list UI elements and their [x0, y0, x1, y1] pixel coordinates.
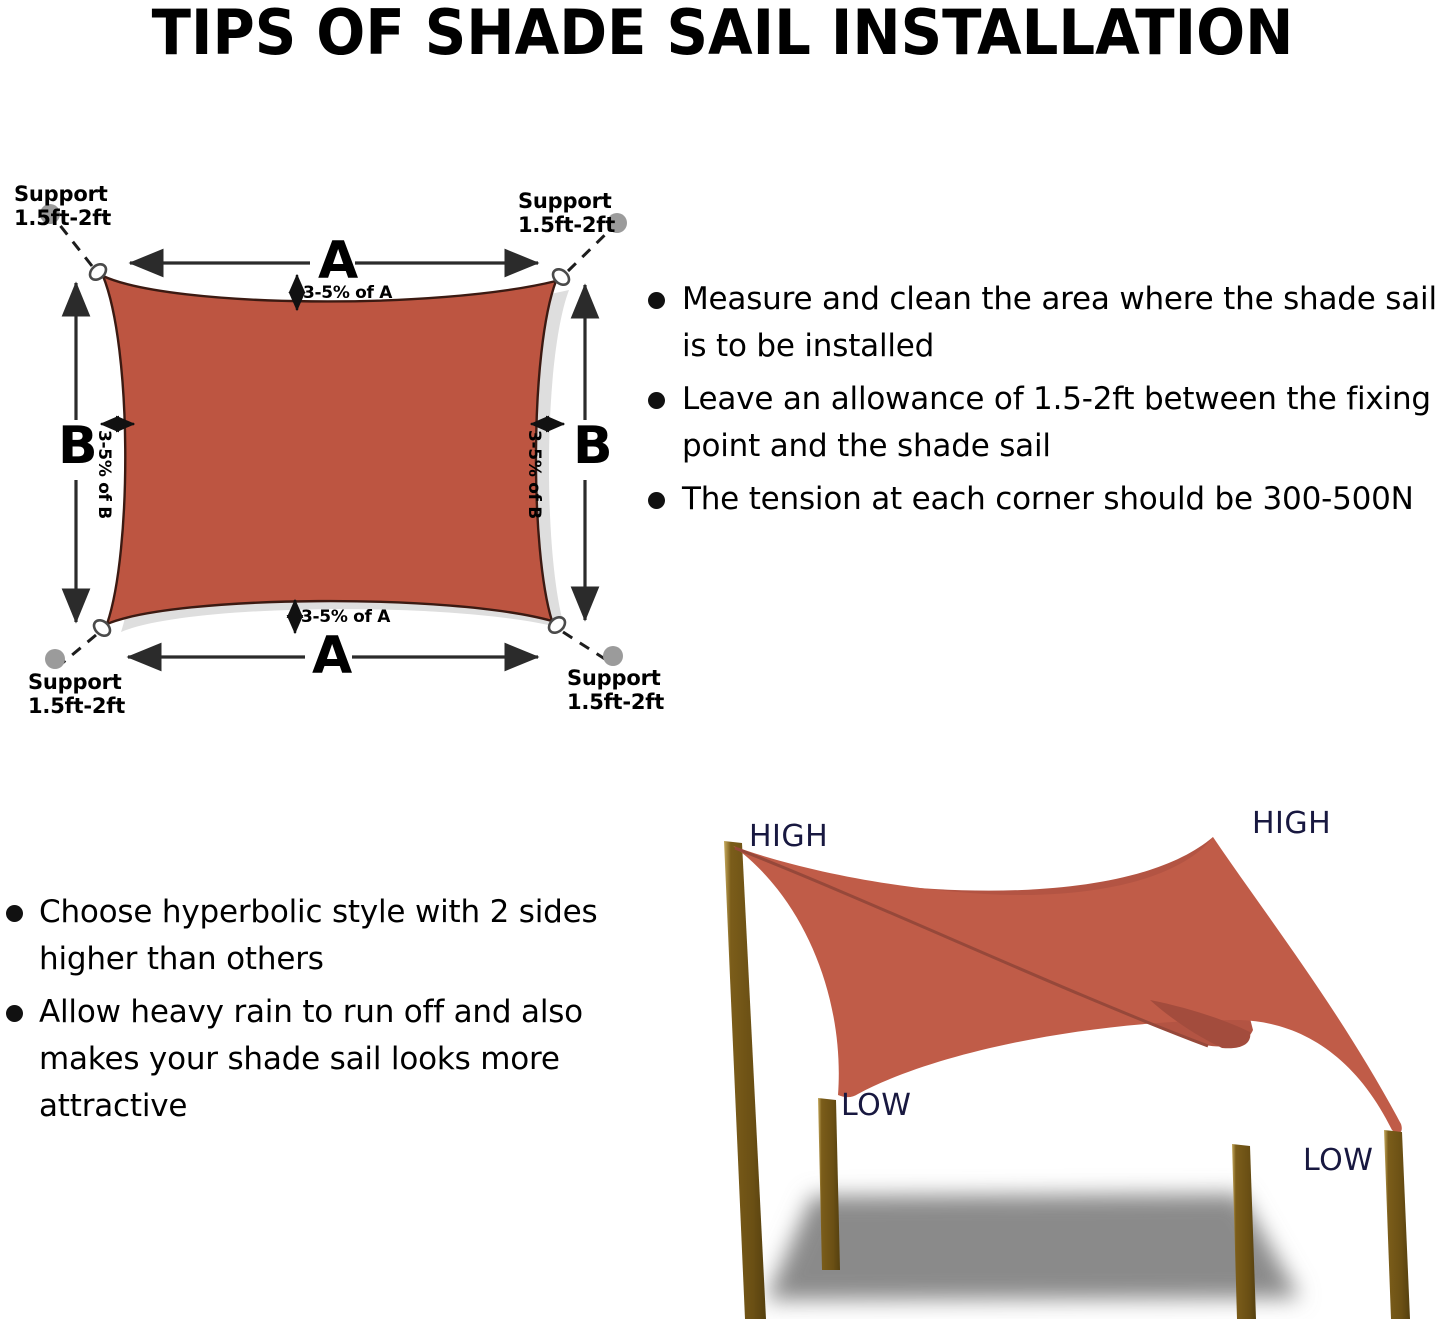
installation-tips-list: Measure and clean the area where the sha… — [648, 276, 1445, 530]
rect-sail-shape — [103, 276, 556, 624]
page-title: TIPS OF SHADE SAIL INSTALLATION — [51, 2, 1395, 64]
post-front-left — [818, 1098, 840, 1270]
list-item: Measure and clean the area where the sha… — [648, 276, 1445, 370]
list-item: Leave an allowance of 1.5-2ft between th… — [648, 376, 1445, 470]
post-back-left — [724, 841, 766, 1319]
sail-drop-shadow — [117, 284, 569, 632]
support-label-top-right: Support 1.5ft-2ft — [518, 190, 615, 237]
support-label-bottom-right: Support 1.5ft-2ft — [567, 667, 664, 714]
dimension-label-A-bottom: A — [312, 630, 352, 682]
label-low-right: LOW — [1303, 1143, 1373, 1178]
list-item-text: Measure and clean the area where the sha… — [682, 276, 1445, 370]
list-item: The tension at each corner should be 300… — [648, 476, 1445, 523]
bullet-dot-icon — [648, 392, 665, 409]
dimension-label-A-top: A — [318, 235, 358, 287]
list-item-text: Choose hyperbolic style with 2 sides hig… — [39, 889, 622, 983]
list-item-text: Allow heavy rain to run off and also mak… — [39, 989, 622, 1130]
curvature-label-right: 3-5% of B — [524, 430, 543, 519]
hyperbolic-sail-edge-line — [735, 848, 1208, 1046]
dimension-label-B-left: B — [58, 420, 98, 472]
support-label-line1: Support — [28, 670, 122, 694]
label-high-left: HIGH — [749, 819, 828, 854]
bullet-dot-icon — [648, 492, 665, 509]
hyperbolic-tips-list: Choose hyperbolic style with 2 sides hig… — [6, 889, 622, 1137]
hyperbolic-sail-overlap — [1150, 1000, 1250, 1048]
support-label-line1: Support — [518, 189, 612, 213]
support-label-line1: Support — [567, 666, 661, 690]
support-label-line1: Support — [14, 182, 108, 206]
list-item-text: Leave an allowance of 1.5-2ft between th… — [682, 376, 1445, 470]
infographic-page: TIPS OF SHADE SAIL INSTALLATION — [0, 0, 1445, 1319]
hyperbolic-sail-back-panel — [733, 837, 1253, 1047]
curvature-label-top: 3-5% of A — [303, 284, 392, 303]
curvature-label-bottom: 3-5% of A — [301, 608, 390, 627]
support-label-line2: 1.5ft-2ft — [28, 694, 125, 718]
post-front-right — [1384, 1130, 1410, 1319]
support-label-bottom-left: Support 1.5ft-2ft — [28, 671, 125, 718]
support-label-line2: 1.5ft-2ft — [518, 213, 615, 237]
label-low-left: LOW — [841, 1088, 911, 1123]
list-item-text: The tension at each corner should be 300… — [682, 476, 1414, 523]
curvature-label-left: 3-5% of B — [94, 430, 113, 519]
post-back-right — [1232, 1144, 1256, 1319]
hyperbolic-sail-front-panel — [733, 837, 1402, 1133]
bullet-dot-icon — [648, 292, 665, 309]
dimension-label-B-right: B — [573, 420, 613, 472]
list-item: Choose hyperbolic style with 2 sides hig… — [6, 889, 622, 983]
list-item: Allow heavy rain to run off and also mak… — [6, 989, 622, 1130]
bullet-dot-icon — [6, 1005, 23, 1022]
label-high-right: HIGH — [1252, 806, 1331, 841]
corner-rings — [87, 261, 572, 639]
support-label-top-left: Support 1.5ft-2ft — [14, 183, 111, 230]
bullet-dot-icon — [6, 905, 23, 922]
support-label-line2: 1.5ft-2ft — [567, 690, 664, 714]
support-label-line2: 1.5ft-2ft — [14, 206, 111, 230]
ground-shadow — [766, 1194, 1300, 1300]
